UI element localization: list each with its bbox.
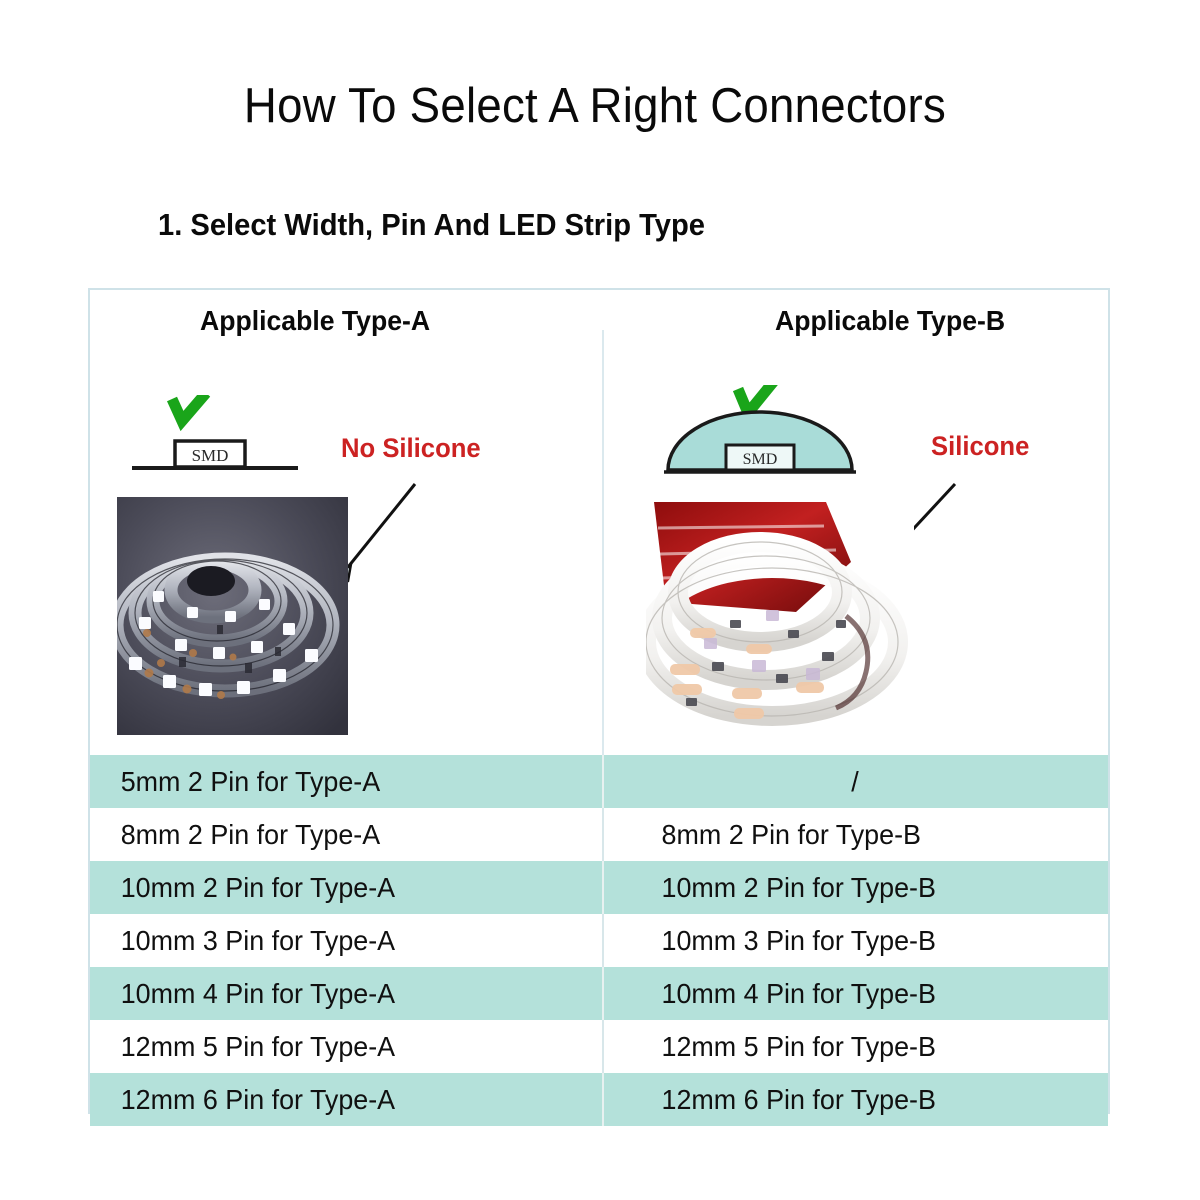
table-row: 12mm 5 Pin for Type-A12mm 5 Pin for Type… — [90, 1020, 1108, 1073]
spec-cell-type-a: 5mm 2 Pin for Type-A — [90, 755, 582, 808]
section-subtitle: 1. Select Width, Pin And LED Strip Type — [158, 207, 705, 243]
spec-cell-type-a: 10mm 3 Pin for Type-A — [90, 914, 582, 967]
photo-led-strip-type-b — [646, 492, 914, 740]
spec-cell-type-a: 10mm 4 Pin for Type-A — [90, 967, 582, 1020]
callout-no-silicone: No Silicone — [341, 433, 481, 464]
table-row: 8mm 2 Pin for Type-A8mm 2 Pin for Type-B — [90, 808, 1108, 861]
spec-table: 5mm 2 Pin for Type-A/8mm 2 Pin for Type-… — [90, 755, 1108, 1126]
table-row: 10mm 4 Pin for Type-A10mm 4 Pin for Type… — [90, 967, 1108, 1020]
spec-cell-type-b: / — [612, 755, 1098, 808]
callout-silicone: Silicone — [931, 431, 1029, 462]
spec-cell-type-a: 8mm 2 Pin for Type-A — [90, 808, 582, 861]
check-icon — [738, 385, 774, 413]
table-row: 10mm 3 Pin for Type-A10mm 3 Pin for Type… — [90, 914, 1108, 967]
smd-chip-label: SMD — [743, 451, 778, 468]
spec-cell-type-b: 10mm 2 Pin for Type-B — [602, 861, 1088, 914]
spec-cell-type-a: 12mm 6 Pin for Type-A — [90, 1073, 582, 1126]
spec-cell-type-b: 12mm 5 Pin for Type-B — [602, 1020, 1088, 1073]
page-title: How To Select A Right Connectors — [42, 78, 1149, 134]
table-row: 10mm 2 Pin for Type-A10mm 2 Pin for Type… — [90, 861, 1108, 914]
photo-led-strip-type-a — [117, 497, 348, 735]
spec-cell-type-b: 10mm 4 Pin for Type-B — [602, 967, 1088, 1020]
spec-cell-type-a: 10mm 2 Pin for Type-A — [90, 861, 582, 914]
column-divider — [602, 330, 604, 755]
column-header-type-b: Applicable Type-B — [775, 305, 1005, 337]
spec-cell-type-b: 10mm 3 Pin for Type-B — [602, 914, 1088, 967]
column-header-type-a: Applicable Type-A — [200, 305, 430, 337]
table-row: 5mm 2 Pin for Type-A/ — [90, 755, 1108, 808]
spec-cell-type-b: 8mm 2 Pin for Type-B — [602, 808, 1088, 861]
diagram-type-b-cross-section: SMD — [650, 385, 870, 480]
spec-cell-type-b: 12mm 6 Pin for Type-B — [602, 1073, 1088, 1126]
smd-chip-label: SMD — [192, 446, 229, 465]
diagram-type-a-cross-section: SMD — [120, 395, 320, 480]
table-row: 12mm 6 Pin for Type-A12mm 6 Pin for Type… — [90, 1073, 1108, 1126]
row-column-divider — [602, 755, 604, 808]
check-icon — [172, 395, 206, 421]
spec-cell-type-a: 12mm 5 Pin for Type-A — [90, 1020, 582, 1073]
